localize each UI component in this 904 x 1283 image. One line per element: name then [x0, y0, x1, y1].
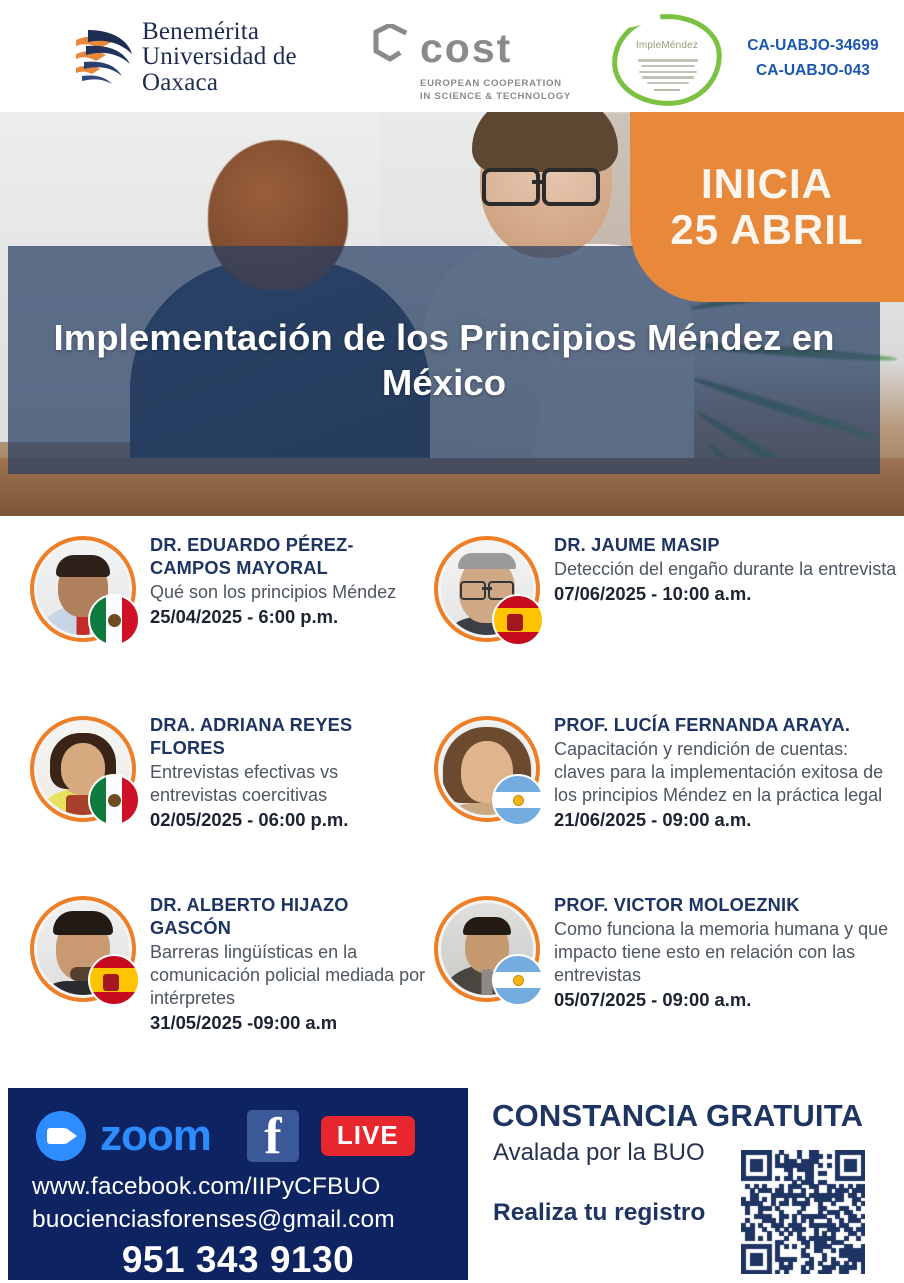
footer: zoom f LIVE www.facebook.com/IIPyCFBUO b…	[0, 1088, 904, 1280]
cost-hexagon-icon	[368, 24, 412, 72]
start-date-badge: INICIA 25 ABRIL	[630, 112, 904, 302]
speaker-item[interactable]: DRA. ADRIANA REYES FLORES Entrevistas ef…	[30, 712, 430, 832]
speaker-item[interactable]: PROF. LUCÍA FERNANDA ARAYA. Capacitación…	[434, 712, 900, 832]
avatar	[434, 716, 540, 822]
live-badge: LIVE	[321, 1116, 415, 1156]
speaker-name: PROF. LUCÍA FERNANDA ARAYA.	[554, 714, 900, 737]
avatar	[30, 896, 136, 1002]
cost-sub-line-2: IN SCIENCE & TECHNOLOGY	[420, 91, 578, 104]
speaker-date: 21/06/2025 - 09:00 a.m.	[554, 808, 900, 832]
speaker-topic: Entrevistas efectivas vs entrevistas coe…	[150, 761, 430, 807]
buo-mark-icon	[72, 24, 134, 90]
speaker-name: DRA. ADRIANA REYES FLORES	[150, 714, 430, 760]
footer-contact-panel: zoom f LIVE www.facebook.com/IIPyCFBUO b…	[8, 1088, 468, 1280]
speaker-list: DR. EDUARDO PÉREZ-CAMPOS MAYORAL Qué son…	[0, 524, 904, 1080]
badge-line-2: 25 ABRIL	[670, 207, 863, 253]
logo-benemerita-universidad-de-oaxaca: Benemérita Universidad de Oaxaca	[72, 18, 334, 96]
qr-code[interactable]	[741, 1150, 865, 1274]
cost-sub-line-1: EUROPEAN COOPERATION	[420, 78, 578, 91]
poster-root: Benemérita Universidad de Oaxaca cost EU…	[0, 0, 904, 1280]
speaker-name: DR. ALBERTO HIJAZO GASCÓN	[150, 894, 430, 940]
spain-flag	[492, 594, 544, 646]
speaker-topic: Qué son los principios Méndez	[150, 581, 430, 604]
speaker-topic: Detección del engaño durante la entrevis…	[554, 558, 896, 581]
speaker-topic: Capacitación y rendición de cuentas: cla…	[554, 738, 900, 807]
zoom-wordmark: zoom	[100, 1114, 211, 1158]
avatar	[30, 536, 136, 642]
speaker-name: PROF. VICTOR MOLOEZNIK	[554, 894, 900, 917]
ca-code-2: CA-UABJO-043	[738, 58, 888, 83]
speaker-name: DR. JAUME MASIP	[554, 534, 896, 557]
speaker-item[interactable]: DR. JAUME MASIP Detección del engaño dur…	[434, 532, 900, 642]
zoom-icon[interactable]	[36, 1111, 86, 1161]
speaker-date: 02/05/2025 - 06:00 p.m.	[150, 808, 430, 832]
speaker-name: DR. EDUARDO PÉREZ-CAMPOS MAYORAL	[150, 534, 430, 580]
speaker-item[interactable]: PROF. VICTOR MOLOEZNIK Como funciona la …	[434, 892, 900, 1012]
buo-line-2: Universidad de	[142, 44, 297, 70]
certificate-title: CONSTANCIA GRATUITA	[492, 1098, 863, 1134]
implemendez-wordmark: ImpleMéndez	[612, 40, 722, 51]
buo-wordmark: Benemérita Universidad de Oaxaca	[142, 19, 297, 96]
speaker-date: 25/04/2025 - 6:00 p.m.	[150, 605, 430, 629]
avatar	[30, 716, 136, 822]
speaker-date: 31/05/2025 -09:00 a.m	[150, 1011, 430, 1035]
logo-implemendez: ImpleMéndez	[612, 14, 722, 106]
header-logo-bar: Benemérita Universidad de Oaxaca cost EU…	[0, 0, 904, 112]
avatar	[434, 536, 540, 642]
argentina-flag	[492, 954, 544, 1006]
footer-brand-row: zoom f LIVE	[36, 1110, 415, 1162]
speaker-date: 05/07/2025 - 09:00 a.m.	[554, 988, 900, 1012]
buo-line-3: Oaxaca	[142, 70, 297, 96]
avatar	[434, 896, 540, 1002]
phone-number[interactable]: 951 343 9130	[32, 1236, 444, 1283]
eyeglasses-icon	[482, 168, 610, 198]
mexico-flag	[88, 594, 140, 646]
argentina-flag	[492, 774, 544, 826]
footer-certificate-panel: CONSTANCIA GRATUITA Avalada por la BUO R…	[490, 1088, 904, 1280]
speaker-topic: Como funciona la memoria humana y que im…	[554, 918, 900, 987]
mexico-flag	[88, 774, 140, 826]
eyeglasses-icon	[460, 581, 514, 596]
facebook-glyph: f	[247, 1110, 299, 1164]
implemendez-footline-placeholder	[612, 78, 722, 96]
hero-banner: Implementación de los Principios Méndez …	[0, 112, 904, 516]
ca-project-codes: CA-UABJO-34699 CA-UABJO-043	[738, 33, 888, 83]
logo-cost: cost EUROPEAN COOPERATION IN SCIENCE & T…	[368, 24, 578, 98]
speaker-item[interactable]: DR. EDUARDO PÉREZ-CAMPOS MAYORAL Qué son…	[30, 532, 430, 642]
registration-cta: Realiza tu registro	[493, 1198, 705, 1228]
certificate-subtitle: Avalada por la BUO	[493, 1138, 705, 1168]
badge-line-1: INICIA	[701, 161, 833, 207]
ca-code-1: CA-UABJO-34699	[738, 33, 888, 58]
cost-wordmark: cost	[420, 28, 512, 68]
buo-line-1: Benemérita	[142, 19, 297, 45]
speaker-date: 07/06/2025 - 10:00 a.m.	[554, 582, 896, 606]
spain-flag	[88, 954, 140, 1006]
hero-title: Implementación de los Principios Méndez …	[49, 315, 839, 405]
speaker-item[interactable]: DR. ALBERTO HIJAZO GASCÓN Barreras lingü…	[30, 892, 430, 1035]
facebook-url[interactable]: www.facebook.com/IIPyCFBUO	[32, 1170, 444, 1203]
speaker-topic: Barreras lingüísticas en la comunicación…	[150, 941, 430, 1010]
facebook-icon[interactable]: f	[247, 1110, 299, 1162]
email-address[interactable]: buocienciasforenses@gmail.com	[32, 1203, 444, 1236]
